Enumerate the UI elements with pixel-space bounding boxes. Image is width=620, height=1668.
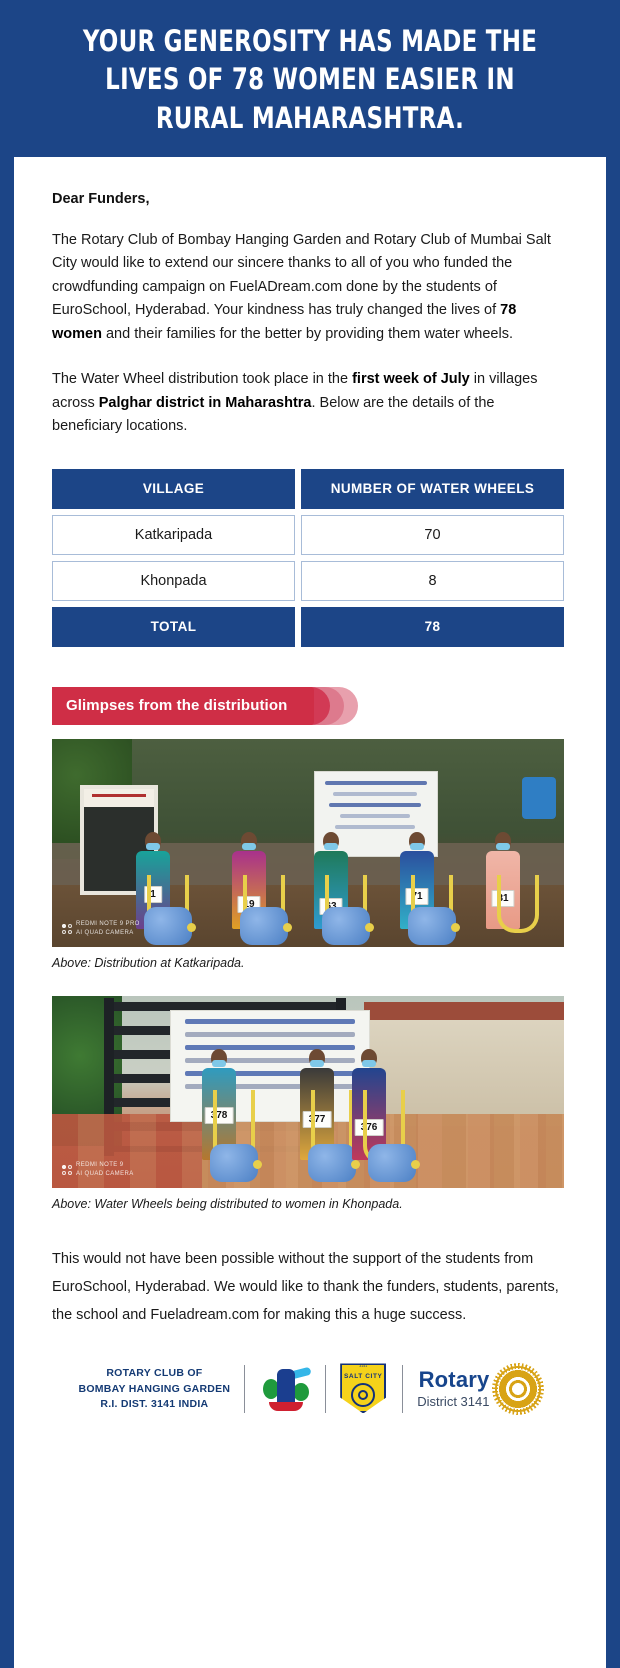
photo-katkaripada: 1 19 63 <box>52 739 564 947</box>
content-sheet: Dear Funders, The Rotary Club of Bombay … <box>14 157 606 1668</box>
rotary-district-label: District 3141 <box>417 1394 489 1409</box>
watermark-line-2: AI QUAD CAMERA <box>76 1170 134 1178</box>
salt-city-shield-icon: 3141 SALT CITY <box>340 1363 388 1415</box>
water-wheel-drum <box>308 1144 356 1182</box>
page-title: YOUR GENEROSITY HAS MADE THE LIVES OF 78… <box>64 22 557 137</box>
photo1-blackboard-header <box>84 789 154 807</box>
face-mask-icon <box>146 843 160 850</box>
face-mask-icon <box>324 843 338 850</box>
water-wheel-drum <box>240 907 288 945</box>
camera-dots-icon <box>62 1165 72 1175</box>
banner-label: Glimpses from the distribution <box>66 697 287 714</box>
table-header-village: VILLAGE <box>52 469 295 509</box>
intro-text-2: and their families for the better by pro… <box>102 326 513 342</box>
cell-wheels: 70 <box>301 515 564 555</box>
watermark-line-2: AI QUAD CAMERA <box>76 929 140 937</box>
photo-block-katkaripada: 1 19 63 <box>52 739 564 947</box>
water-wheel-drum <box>368 1144 416 1182</box>
photo-khonpada: 378 377 376 <box>52 996 564 1188</box>
photo1-water-tank <box>522 777 556 819</box>
salt-city-name: SALT CITY <box>344 1373 383 1380</box>
hanging-garden-icon <box>259 1365 311 1413</box>
face-mask-icon <box>410 843 424 850</box>
face-mask-icon <box>212 1060 226 1067</box>
rotary-district-logo: Rotary District 3141 <box>403 1366 555 1412</box>
rotary-gear-icon <box>495 1366 541 1412</box>
cell-village: Khonpada <box>52 561 295 601</box>
intro-text-1: The Rotary Club of Bombay Hanging Garden… <box>52 232 551 318</box>
rotary-wheel-icon <box>351 1383 375 1407</box>
cell-total-label: TOTAL <box>52 607 295 647</box>
table-row: Khonpada 8 <box>52 561 564 601</box>
camera-watermark: REDMI NOTE 9 AI QUAD CAMERA <box>62 1161 134 1177</box>
rotary-wordmark: Rotary <box>417 1369 489 1391</box>
water-wheel-drum <box>210 1144 258 1182</box>
cell-wheels: 8 <box>301 561 564 601</box>
camera-dots-icon <box>62 924 72 934</box>
footer-logos: ROTARY CLUB OF BOMBAY HANGING GARDEN R.I… <box>40 1363 580 1415</box>
club-line-2: BOMBAY HANGING GARDEN <box>79 1382 231 1398</box>
cell-village: Katkaripada <box>52 515 295 555</box>
photo-block-khonpada: 378 377 376 <box>52 996 564 1188</box>
bombay-hanging-garden-logo <box>245 1365 325 1413</box>
banner-bar: Glimpses from the distribution <box>52 687 314 725</box>
table-total-row: TOTAL 78 <box>52 607 564 647</box>
table-row: Katkaripada 70 <box>52 515 564 555</box>
cell-total-value: 78 <box>301 607 564 647</box>
newsletter-page: YOUR GENEROSITY HAS MADE THE LIVES OF 78… <box>0 0 620 1668</box>
face-mask-icon <box>362 1060 376 1067</box>
table-header-row: VILLAGE NUMBER OF WATER WHEELS <box>52 469 564 509</box>
rotary-club-bhg-text: ROTARY CLUB OF BOMBAY HANGING GARDEN R.I… <box>65 1366 245 1413</box>
salutation: Dear Funders, <box>52 191 580 207</box>
water-wheel-handle <box>497 875 539 933</box>
face-mask-icon <box>242 843 256 850</box>
salt-city-logo: 3141 SALT CITY <box>326 1363 402 1415</box>
club-line-1: ROTARY CLUB OF <box>79 1366 231 1382</box>
face-mask-icon <box>496 843 510 850</box>
closing-paragraph: This would not have been possible withou… <box>52 1245 564 1330</box>
watermark-line-1: REDMI NOTE 9 PRO <box>76 920 140 928</box>
photo2-caption: Above: Water Wheels being distributed to… <box>52 1197 580 1211</box>
water-wheel-drum <box>408 907 456 945</box>
glimpses-banner: Glimpses from the distribution <box>52 687 564 725</box>
intro-paragraph: The Rotary Club of Bombay Hanging Garden… <box>52 229 564 346</box>
dist-text-1: The Water Wheel distribution took place … <box>52 371 352 387</box>
club-line-3: R.I. DIST. 3141 INDIA <box>79 1397 231 1413</box>
face-mask-icon <box>310 1060 324 1067</box>
photo2-roof <box>364 1002 564 1020</box>
distribution-paragraph: The Water Wheel distribution took place … <box>52 368 564 438</box>
water-wheel-drum <box>144 907 192 945</box>
photo1-caption: Above: Distribution at Katkaripada. <box>52 956 580 970</box>
village-table: VILLAGE NUMBER OF WATER WHEELS Katkaripa… <box>52 469 564 647</box>
dist-bold-date: first week of July <box>352 371 470 387</box>
dist-bold-place: Palghar district in Maharashtra <box>99 395 312 411</box>
page-header: YOUR GENEROSITY HAS MADE THE LIVES OF 78… <box>0 0 620 157</box>
table-header-wheels: NUMBER OF WATER WHEELS <box>301 469 564 509</box>
photo1-beneficiary: 31 <box>486 832 520 929</box>
camera-watermark: REDMI NOTE 9 PRO AI QUAD CAMERA <box>62 920 140 936</box>
watermark-line-1: REDMI NOTE 9 <box>76 1161 134 1169</box>
salt-city-district: 3141 <box>359 1364 367 1368</box>
water-wheel-drum <box>322 907 370 945</box>
